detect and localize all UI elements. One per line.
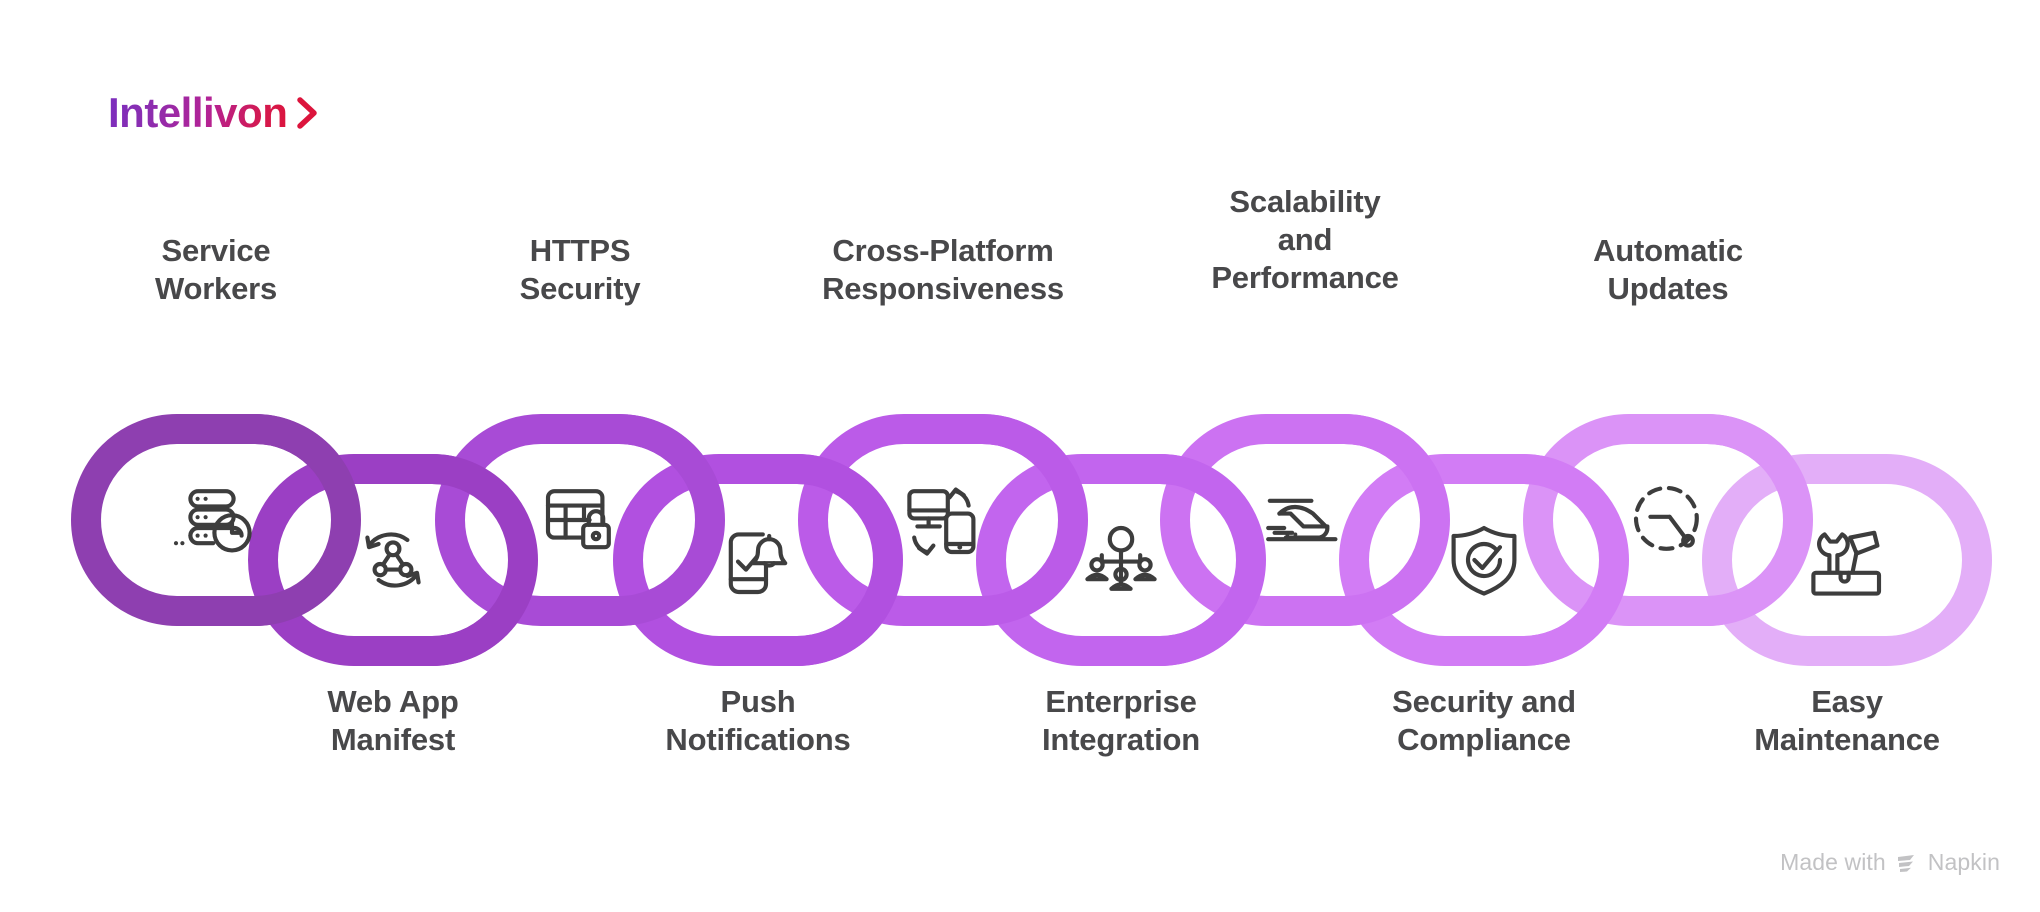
napkin-logo-icon (1895, 851, 1919, 875)
link-label-enterprise-integration: Enterprise Integration (971, 683, 1271, 759)
diagram-canvas: Intellivon (0, 0, 2040, 912)
made-with-label: Made with (1780, 849, 1886, 876)
shield-check-icon (1454, 528, 1515, 594)
link-label-cross-platform: Cross-Platform Responsiveness (793, 232, 1093, 308)
product-label: Napkin (1928, 849, 2000, 876)
phone-bell-check-icon (731, 534, 785, 592)
server-clock-icon (174, 491, 250, 550)
link-label-push-notifications: Push Notifications (608, 683, 908, 759)
link-label-https-security: HTTPS Security (430, 232, 730, 308)
org-hierarchy-icon (1087, 528, 1154, 589)
link-label-security-compliance: Security and Compliance (1334, 683, 1634, 759)
link-label-service-workers: Service Workers (66, 232, 366, 308)
chevron-right-icon (293, 92, 323, 134)
link-label-automatic-updates: Automatic Updates (1518, 232, 1818, 308)
bullet-train-icon (1268, 501, 1335, 539)
toolbox-icon (1813, 533, 1879, 594)
link-label-easy-maintenance: Easy Maintenance (1697, 683, 1997, 759)
chain-graphic (0, 0, 2040, 912)
brand-name: Intellivon (108, 92, 287, 134)
desktop-mobile-sync-icon (909, 490, 973, 554)
link-label-web-app-manifest: Web App Manifest (243, 683, 543, 759)
dashed-clock-refresh-icon (1636, 488, 1697, 549)
link-label-scalability: Scalability and Performance (1155, 183, 1455, 296)
brand-logo[interactable]: Intellivon (108, 92, 323, 134)
made-with-napkin-badge[interactable]: Made with Napkin (1780, 849, 2000, 876)
network-sync-icon (367, 534, 418, 585)
table-lock-icon (548, 491, 609, 547)
